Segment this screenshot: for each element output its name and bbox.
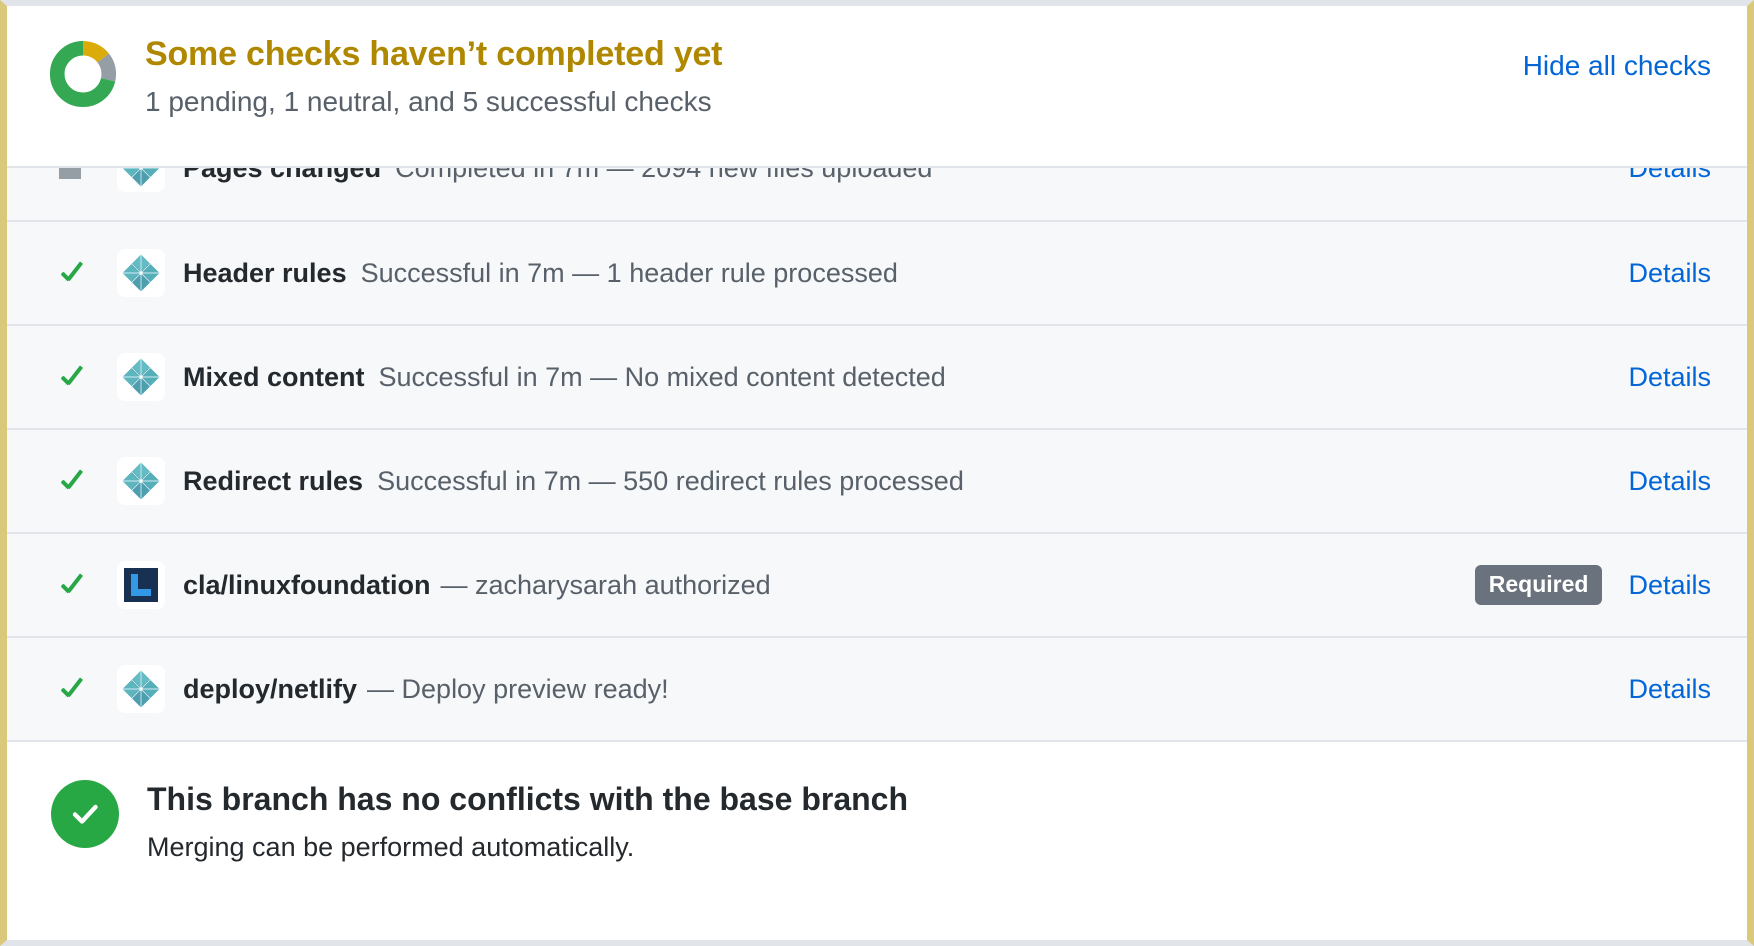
check-name: deploy/netlify: [183, 674, 357, 705]
check-mark-icon-cell: [59, 674, 117, 704]
checks-status-text: Some checks haven’t completed yet 1 pend…: [145, 34, 1711, 121]
check-description: — zacharysarah authorized: [441, 570, 771, 601]
checks-status-header: Some checks haven’t completed yet 1 pend…: [7, 6, 1747, 166]
check-mark-icon-cell: [59, 258, 117, 288]
merge-box: Some checks haven’t completed yet 1 pend…: [0, 0, 1754, 946]
netlify-diamond-icon: [117, 168, 165, 192]
checks-status-donut: [49, 40, 117, 108]
netlify-diamond-icon: [117, 353, 165, 401]
netlify-diamond-icon: [117, 249, 165, 297]
check-row-inner: Redirect rulesSuccessful in 7m — 550 red…: [59, 457, 1711, 505]
check-row-inner: deploy/netlify— Deploy preview ready!Det…: [59, 665, 1711, 713]
netlify-diamond-icon: [117, 665, 165, 713]
merge-status-section: This branch has no conflicts with the ba…: [7, 742, 1747, 940]
check-row: Pages changedCompleted in 7m — 2094 new …: [7, 168, 1747, 222]
check-details-link[interactable]: Details: [1628, 466, 1711, 497]
check-name: Pages changed: [183, 168, 381, 184]
check-name: cla/linuxfoundation: [183, 570, 431, 601]
check-details-link[interactable]: Details: [1628, 258, 1711, 289]
check-details-link[interactable]: Details: [1628, 570, 1711, 601]
check-circle-icon: [51, 780, 119, 848]
check-mark-icon-cell: [59, 362, 117, 392]
merge-status-subtitle: Merging can be performed automatically.: [147, 830, 908, 865]
check-mark-icon-cell: [59, 466, 117, 496]
check-mark-icon: [59, 466, 89, 496]
required-badge: Required: [1475, 565, 1603, 605]
netlify-diamond-icon: [117, 457, 165, 505]
check-mark-icon-cell: [59, 570, 117, 600]
check-mark-icon: [59, 362, 89, 392]
neutral-square-icon: [59, 168, 81, 179]
checks-list: Pages changedCompleted in 7m — 2094 new …: [7, 166, 1747, 742]
check-row: Header rulesSuccessful in 7m — 1 header …: [7, 222, 1747, 326]
check-description: Completed in 7m — 2094 new files uploade…: [395, 168, 932, 184]
neutral-square-icon-cell: [59, 168, 117, 179]
check-details-link[interactable]: Details: [1628, 674, 1711, 705]
check-mark-icon: [59, 570, 89, 600]
check-row: cla/linuxfoundation— zacharysarah author…: [7, 534, 1747, 638]
donut-chart-icon: [49, 40, 117, 108]
check-mark-icon: [59, 674, 89, 704]
merge-status-text: This branch has no conflicts with the ba…: [147, 778, 908, 865]
check-name: Header rules: [183, 258, 347, 289]
hide-all-checks-link[interactable]: Hide all checks: [1523, 50, 1711, 82]
check-name: Redirect rules: [183, 466, 363, 497]
merge-status-title: This branch has no conflicts with the ba…: [147, 780, 908, 818]
check-row: Mixed contentSuccessful in 7m — No mixed…: [7, 326, 1747, 430]
checks-status-subtitle: 1 pending, 1 neutral, and 5 successful c…: [145, 84, 1711, 120]
check-row: deploy/netlify— Deploy preview ready!Det…: [7, 638, 1747, 742]
check-details-link[interactable]: Details: [1628, 168, 1711, 184]
check-row-inner: Mixed contentSuccessful in 7m — No mixed…: [59, 353, 1711, 401]
check-description: Successful in 7m — 550 redirect rules pr…: [377, 466, 964, 497]
checks-status-title: Some checks haven’t completed yet: [145, 34, 1711, 74]
check-description: Successful in 7m — No mixed content dete…: [379, 362, 946, 393]
check-row-inner: Header rulesSuccessful in 7m — 1 header …: [59, 249, 1711, 297]
check-description: — Deploy preview ready!: [367, 674, 669, 705]
check-mark-icon: [59, 258, 89, 288]
check-row: Redirect rulesSuccessful in 7m — 550 red…: [7, 430, 1747, 534]
check-name: Mixed content: [183, 362, 365, 393]
check-row-inner: Pages changedCompleted in 7m — 2094 new …: [59, 168, 1711, 220]
check-row-inner: cla/linuxfoundation— zacharysarah author…: [59, 561, 1711, 609]
check-description: Successful in 7m — 1 header rule process…: [361, 258, 898, 289]
check-details-link[interactable]: Details: [1628, 362, 1711, 393]
linux-foundation-icon: [117, 561, 165, 609]
pr-merge-box-root: Some checks haven’t completed yet 1 pend…: [0, 0, 1754, 946]
